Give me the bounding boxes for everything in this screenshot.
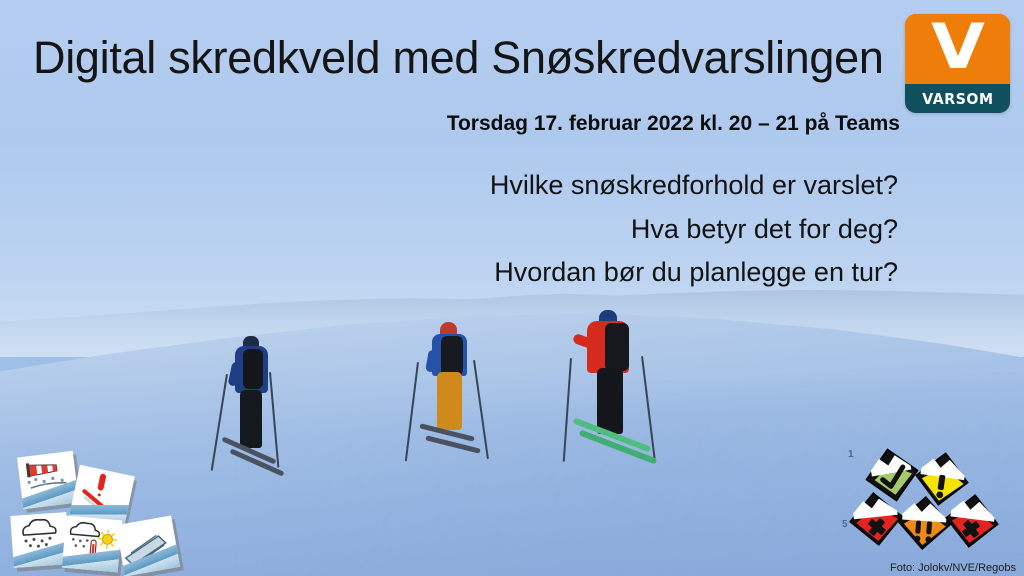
ski-pole <box>269 372 279 468</box>
snowpack-layer-card <box>116 516 180 576</box>
weather-card-cluster <box>8 448 178 572</box>
question-1: Hvilke snøskredforhold er varslet? <box>490 164 898 208</box>
danger-scale-max-label: 5 <box>842 519 848 530</box>
skier-backpack <box>441 336 463 376</box>
question-3: Hvordan bør du planlegge en tur? <box>490 251 898 295</box>
danger-scale-min-label: 1 <box>848 449 854 460</box>
danger-level-5-red <box>941 490 1003 552</box>
skier-center <box>415 322 493 487</box>
danger-sign-5-icon <box>941 490 1003 552</box>
skier-legs <box>240 390 262 448</box>
snowfall-card <box>10 512 69 568</box>
skier-backpack <box>605 323 629 371</box>
varsom-wordmark: VARSOM <box>922 90 993 108</box>
ski-pole <box>473 360 489 459</box>
sun-icon <box>98 530 118 550</box>
event-datetime: Torsdag 17. februar 2022 kl. 20 – 21 på … <box>447 112 900 136</box>
skier-right <box>565 310 665 495</box>
slide-title: Digital skredkveld med Snøskredvarslinge… <box>33 34 884 82</box>
skier-legs <box>597 368 623 434</box>
danger-scale-cluster: 1 5 <box>838 443 1024 553</box>
presentation-slide: Digital skredkveld med Snøskredvarslinge… <box>0 0 1024 576</box>
varsom-logo-mark: V <box>905 14 1010 84</box>
varsom-v-letter: V <box>931 16 984 78</box>
skier-left <box>222 336 292 496</box>
skier-pants <box>437 372 462 430</box>
wind-snowdrift-card <box>17 451 79 509</box>
question-list: Hvilke snøskredforhold er varslet? Hva b… <box>490 164 898 295</box>
skier-backpack <box>243 349 263 389</box>
question-2: Hva betyr det for deg? <box>490 208 898 252</box>
photo-credit: Foto: Jolokv/NVE/Regobs <box>890 562 1016 574</box>
ski-pole <box>563 358 572 462</box>
varsom-logo[interactable]: V VARSOM <box>905 14 1010 113</box>
mixed-weather-card <box>62 516 122 573</box>
varsom-logo-wordmark-bar: VARSOM <box>905 84 1010 113</box>
